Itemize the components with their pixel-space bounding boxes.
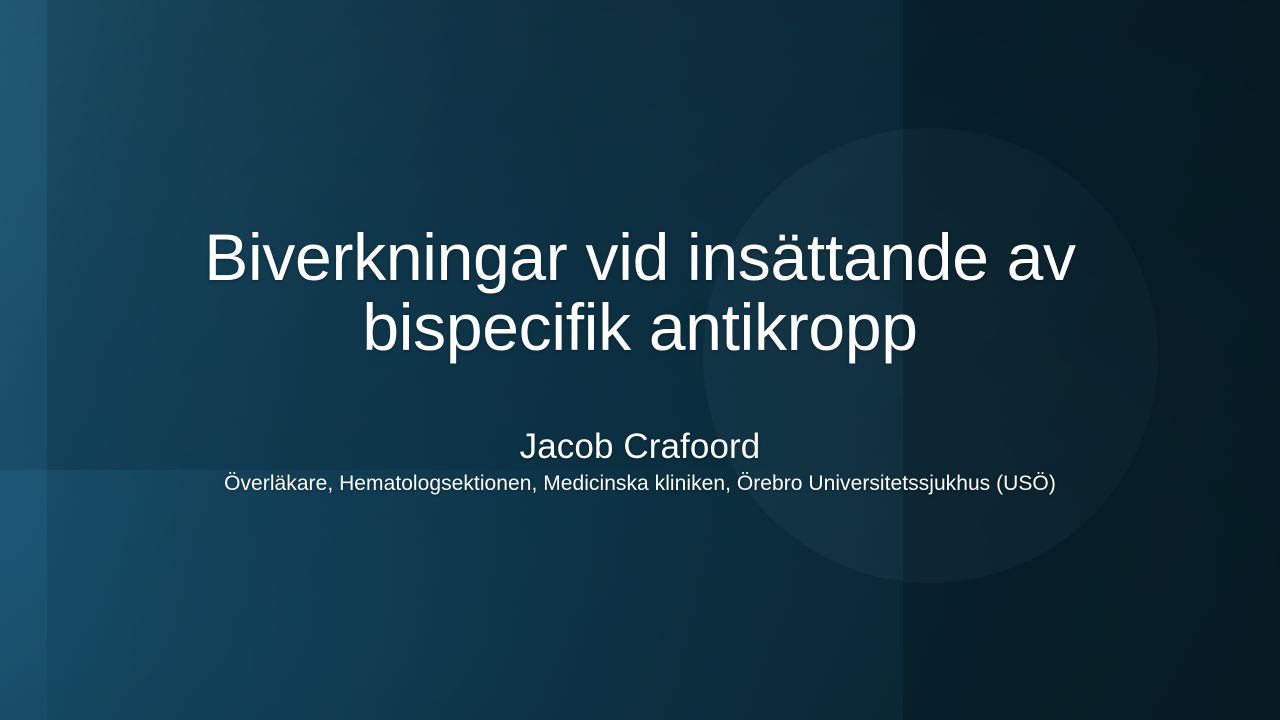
title-slide: Biverkningar vid insättande av bispecifi… xyxy=(0,0,1280,720)
presenter-block: Jacob Crafoord Överläkare, Hematologsekt… xyxy=(0,426,1280,498)
slide-title-line-2: bispecifik antikropp xyxy=(100,292,1180,362)
slide-title: Biverkningar vid insättande av bispecifi… xyxy=(0,222,1280,362)
slide-title-line-1: Biverkningar vid insättande av xyxy=(100,222,1180,292)
presenter-name: Jacob Crafoord xyxy=(0,426,1280,468)
slide-content: Biverkningar vid insättande av bispecifi… xyxy=(0,0,1280,720)
presenter-affiliation: Överläkare, Hematologsektionen, Medicins… xyxy=(0,470,1280,498)
